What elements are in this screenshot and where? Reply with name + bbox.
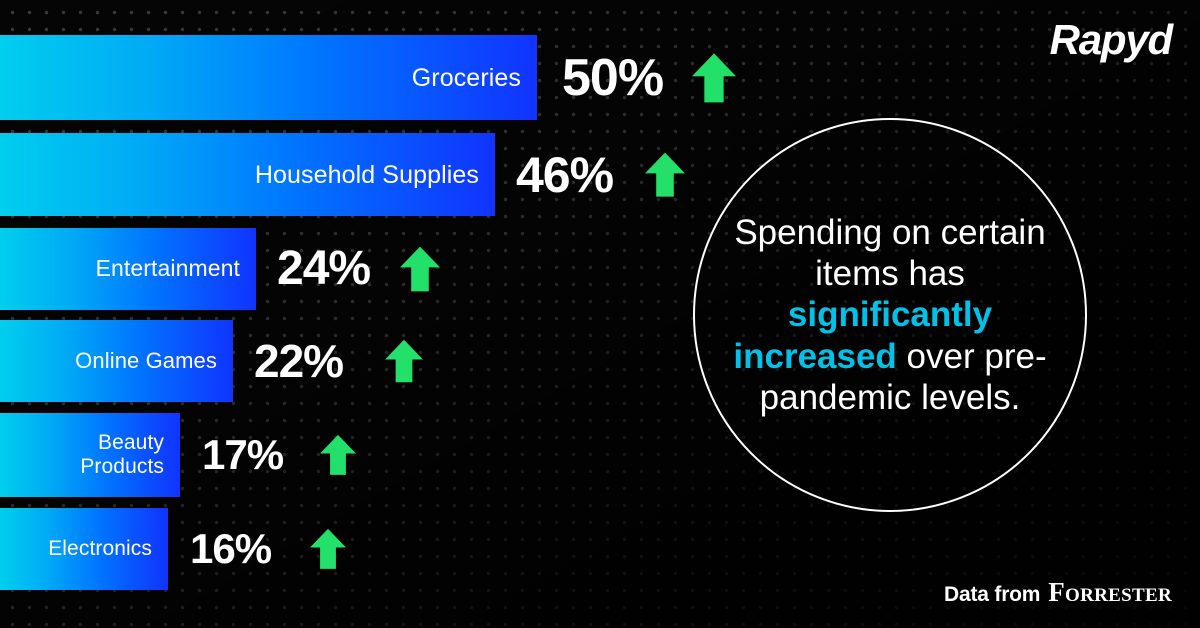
bar-category-label: Groceries — [412, 64, 537, 92]
bar-value-label: 22% — [254, 338, 343, 384]
callout-circle: Spending on certain items has significan… — [693, 118, 1087, 512]
bar-fill[interactable]: Electronics — [0, 508, 168, 590]
arrow-up-icon — [400, 247, 440, 292]
bar-category-label: Entertainment — [96, 256, 257, 282]
infographic-canvas: Groceries50%Household Supplies46%Enterta… — [0, 0, 1200, 628]
bar-value-label: 17% — [202, 434, 283, 476]
bar-value-label: 24% — [277, 245, 370, 293]
bar-category-label: Electronics — [48, 537, 168, 561]
bar-fill[interactable]: Groceries — [0, 35, 537, 120]
arrow-up-icon — [385, 340, 423, 383]
callout-highlight-significantly: significantly — [788, 295, 992, 334]
callout-highlight-increased: increased — [733, 337, 896, 376]
bar-fill[interactable]: Household Supplies — [0, 133, 495, 216]
arrow-up-icon — [320, 435, 356, 475]
arrow-up-icon — [310, 529, 346, 569]
source-prefix-label: Data from — [944, 583, 1040, 607]
bar-category-label: Online Games — [75, 349, 233, 374]
bar-value-label: 16% — [190, 528, 271, 570]
forrester-wordmark: Forrester — [1048, 577, 1172, 608]
data-source-attribution: Data from Forrester — [944, 577, 1172, 608]
arrow-up-icon — [645, 152, 685, 197]
rapyd-logo[interactable]: Rapyd — [1050, 16, 1172, 64]
bar-fill[interactable]: Beauty Products — [0, 413, 180, 497]
bar-category-label: Household Supplies — [255, 161, 495, 189]
bar-row: Groceries50% — [0, 35, 1200, 120]
arrow-up-icon — [692, 53, 736, 102]
bar-fill[interactable]: Online Games — [0, 320, 233, 402]
callout-text: Spending on certain items has significan… — [730, 212, 1050, 418]
bar-value-label: 50% — [562, 52, 663, 104]
bar-fill[interactable]: Entertainment — [0, 228, 256, 310]
bar-value-label: 46% — [516, 150, 613, 200]
bar-category-label: Beauty Products — [80, 431, 180, 478]
